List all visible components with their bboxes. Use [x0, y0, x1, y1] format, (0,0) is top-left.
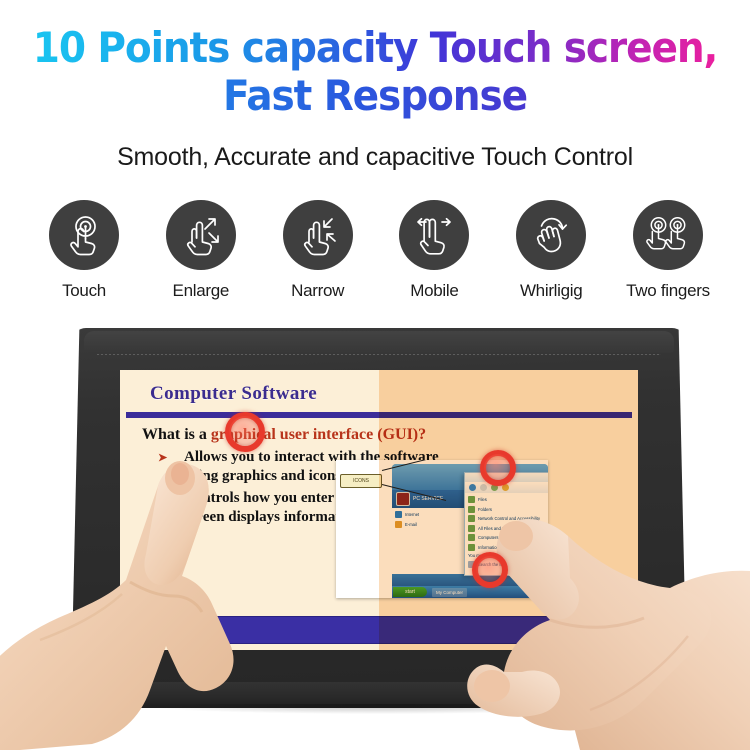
- gesture-item-whirligig[interactable]: Whirligig: [497, 200, 605, 301]
- gesture-item-mobile[interactable]: Mobile: [380, 200, 488, 301]
- headline-line-2: Fast Response: [26, 72, 724, 120]
- outlook-icon: [395, 521, 402, 528]
- xp-start-button[interactable]: start: [393, 587, 427, 597]
- gesture-icon-row: Touch Enlarge Narrow: [30, 200, 722, 301]
- gesture-label: Two fingers: [626, 281, 710, 301]
- icons-callout-label: ICONS: [340, 474, 382, 488]
- headline: 10 Points capacity Touch screen, Fast Re…: [0, 24, 750, 120]
- touch-ring-3: [472, 552, 508, 588]
- headline-line-1: 10 Points capacity Touch screen,: [26, 24, 724, 72]
- subtitle: Smooth, Accurate and capacitive Touch Co…: [0, 143, 750, 172]
- bezel-seam: [97, 354, 662, 355]
- slide-divider: [126, 412, 632, 418]
- touch-ring-core: [229, 416, 261, 448]
- hand-two-finger-pan-icon: [399, 200, 469, 270]
- gesture-label: Whirligig: [520, 281, 582, 301]
- internet-explorer-icon: [395, 511, 402, 518]
- gesture-item-two-fingers[interactable]: Two fingers: [614, 200, 722, 301]
- gesture-item-touch[interactable]: Touch: [30, 200, 138, 301]
- gesture-label: Mobile: [410, 281, 458, 301]
- two-finger-tap-icon: [633, 200, 703, 270]
- touch-ring-2: [480, 450, 516, 486]
- gesture-label: Touch: [62, 281, 106, 301]
- right-hand-pinching: [430, 452, 750, 750]
- gesture-item-enlarge[interactable]: Enlarge: [147, 200, 255, 301]
- hand-tap-icon: [49, 200, 119, 270]
- hand-pinch-out-icon: [166, 200, 236, 270]
- hand-pinch-in-icon: [283, 200, 353, 270]
- xp-user-avatar: [396, 492, 410, 506]
- left-hand-pointing: [0, 430, 280, 750]
- bezel-top-band: [84, 331, 673, 353]
- gesture-item-narrow[interactable]: Narrow: [264, 200, 372, 301]
- hand-rotate-icon: [516, 200, 586, 270]
- gesture-label: Narrow: [291, 281, 344, 301]
- touch-ring-core: [484, 454, 512, 482]
- touch-ring-1: [225, 412, 265, 452]
- touch-ring-core: [476, 556, 504, 584]
- gesture-label: Enlarge: [173, 281, 230, 301]
- xp-item-label: Internet: [405, 512, 419, 517]
- xp-item-label: E-mail: [405, 522, 417, 527]
